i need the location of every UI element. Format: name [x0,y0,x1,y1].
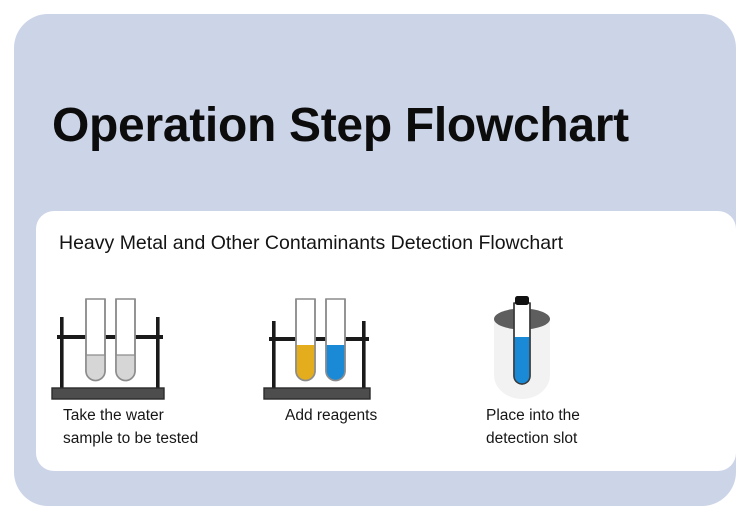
step-item-2: Add reagents [258,293,458,463]
page-title: Operation Step Flowchart [52,102,712,150]
flowchart-card: Heavy Metal and Other Contaminants Detec… [36,211,736,471]
detection-slot-with-tube-icon [464,293,664,403]
steps-row: Take the water sample to be tested [36,293,736,463]
step-caption-2: Add reagents [285,405,465,428]
outer-panel: Operation Step Flowchart Heavy Metal and… [14,14,736,506]
flowchart-screenshot: Operation Step Flowchart Heavy Metal and… [0,0,750,523]
step-caption-3: Place into the detection slot [486,405,666,450]
step-item-3: Place into the detection slot [464,293,664,463]
test-tube-rack-with-reagents-icon [258,293,458,403]
step-caption-1: Take the water sample to be tested [63,405,253,450]
step-item-1: Take the water sample to be tested [46,293,246,463]
card-heading: Heavy Metal and Other Contaminants Detec… [59,230,619,258]
test-tube-rack-with-water-sample-icon [46,293,246,403]
